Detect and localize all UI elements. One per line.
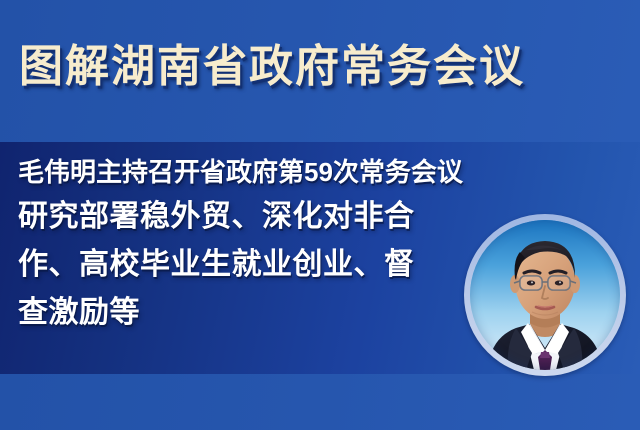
headline-lead: 毛伟明主持召开省政府第59次常务会议: [18, 152, 478, 193]
avatar: [464, 214, 626, 376]
avatar-clip: [470, 220, 620, 370]
headline-block: 毛伟明主持召开省政府第59次常务会议 研究部署稳外贸、深化对非合 作、高校毕业生…: [18, 152, 478, 337]
portrait-illustration: [470, 220, 620, 370]
headline-line-3: 查激励等: [18, 289, 478, 337]
footer-band: [0, 374, 640, 430]
page-title: 图解湖南省政府常务会议: [19, 41, 525, 93]
poster-graphic: 图解湖南省政府常务会议 毛伟明主持召开省政府第59次常务会议 研究部署稳外贸、深…: [0, 0, 640, 430]
headline-line-1: 研究部署稳外贸、深化对非合: [18, 193, 478, 241]
headline-line-2: 作、高校毕业生就业创业、督: [18, 241, 478, 289]
